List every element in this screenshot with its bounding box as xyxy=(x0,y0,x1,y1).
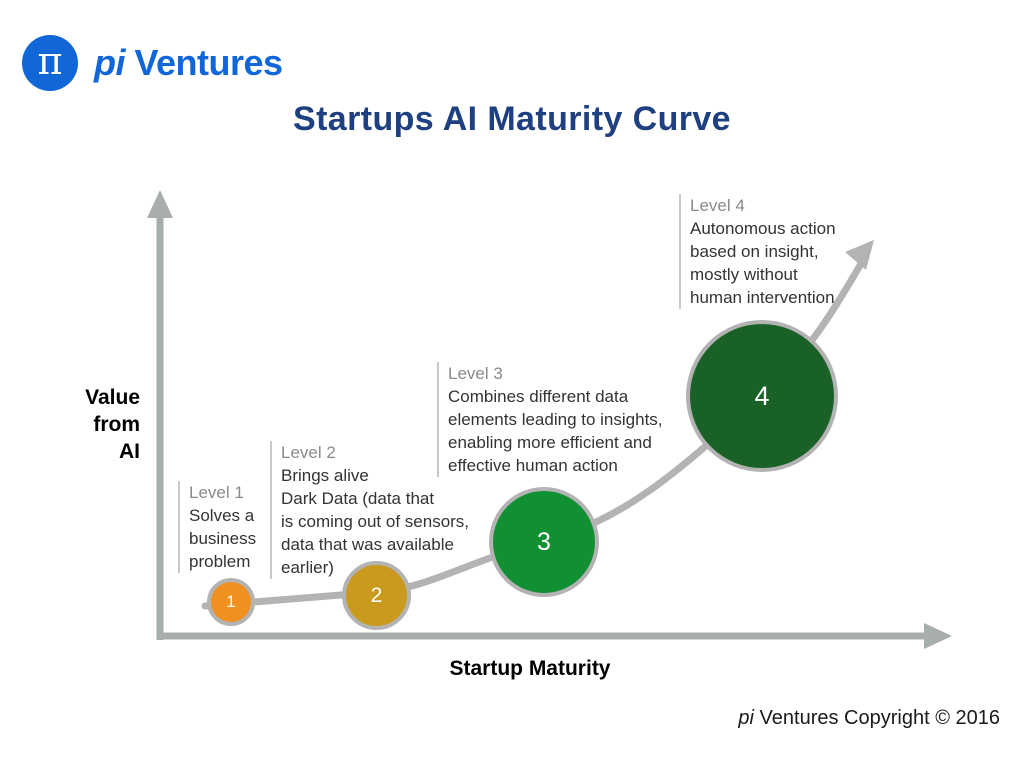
x-axis-title: Startup Maturity xyxy=(330,657,730,681)
bubble-level-4: 4 xyxy=(686,320,838,472)
callout-level-4-text: Autonomous action based on insight, most… xyxy=(690,217,849,309)
x-axis xyxy=(160,623,952,649)
y-axis xyxy=(147,190,173,640)
bubble-level-1: 1 xyxy=(207,578,255,626)
footer-pi: pi xyxy=(738,707,754,729)
callout-level-3-text: Combines different data elements leading… xyxy=(448,385,672,477)
callout-level-4-title: Level 4 xyxy=(690,194,849,217)
callout-level-3-title: Level 3 xyxy=(448,362,672,385)
callout-level-4: Level 4 Autonomous action based on insig… xyxy=(679,194,849,309)
bubble-level-3: 3 xyxy=(489,487,599,597)
y-axis-title: Value from AI xyxy=(40,384,140,465)
footer-rest: Ventures Copyright © 2016 xyxy=(754,707,1000,729)
copyright-footer: pi Ventures Copyright © 2016 xyxy=(738,707,1000,730)
bubble-level-2: 2 xyxy=(342,561,411,630)
callout-level-3: Level 3 Combines different data elements… xyxy=(437,362,672,477)
